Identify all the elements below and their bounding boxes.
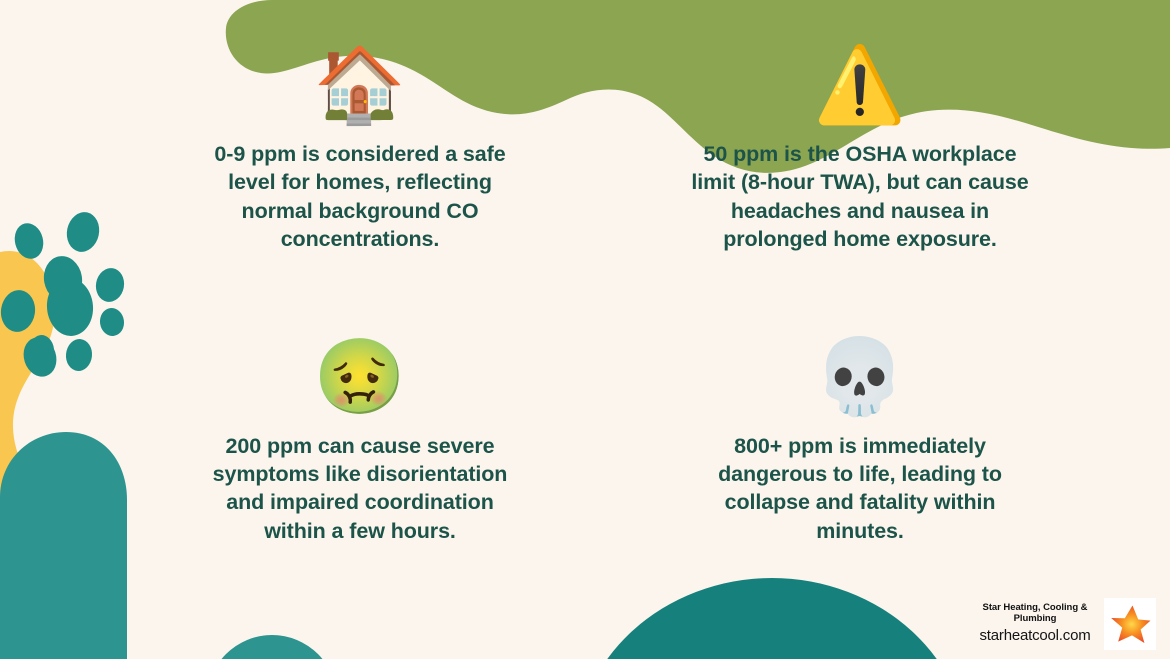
fact-card-osha-limit: ⚠️ 50 ppm is the OSHA workplace limit (8… xyxy=(610,42,1110,316)
star-logo-mark xyxy=(1104,598,1156,650)
infographic-canvas: 🏠 0-9 ppm is considered a safe level for… xyxy=(0,0,1170,659)
fact-card-safe-level: 🏠 0-9 ppm is considered a safe level for… xyxy=(110,42,610,316)
skull-icon: 💀 xyxy=(814,334,906,420)
company-website: starheatcool.com xyxy=(979,628,1090,645)
brand-logo[interactable]: Star Heating, Cooling & Plumbing starhea… xyxy=(974,598,1156,650)
fact-text-fatal-level: 800+ ppm is immediately dangerous to lif… xyxy=(695,432,1025,546)
company-name: Star Heating, Cooling & Plumbing xyxy=(974,603,1096,624)
fact-text-severe-symptoms: 200 ppm can cause severe symptoms like d… xyxy=(195,432,525,546)
house-icon: 🏠 xyxy=(314,42,406,128)
nauseated-face-icon: 🤢 xyxy=(314,334,406,420)
fact-card-fatal-level: 💀 800+ ppm is immediately dangerous to l… xyxy=(610,316,1110,590)
fact-text-safe-level: 0-9 ppm is considered a safe level for h… xyxy=(195,140,525,254)
brand-logo-text: Star Heating, Cooling & Plumbing starhea… xyxy=(974,603,1096,644)
fact-text-osha-limit: 50 ppm is the OSHA workplace limit (8-ho… xyxy=(688,140,1033,254)
star-icon xyxy=(1108,602,1152,646)
facts-grid: 🏠 0-9 ppm is considered a safe level for… xyxy=(0,0,1170,659)
warning-triangle-icon: ⚠️ xyxy=(814,42,906,128)
fact-card-severe-symptoms: 🤢 200 ppm can cause severe symptoms like… xyxy=(110,316,610,590)
